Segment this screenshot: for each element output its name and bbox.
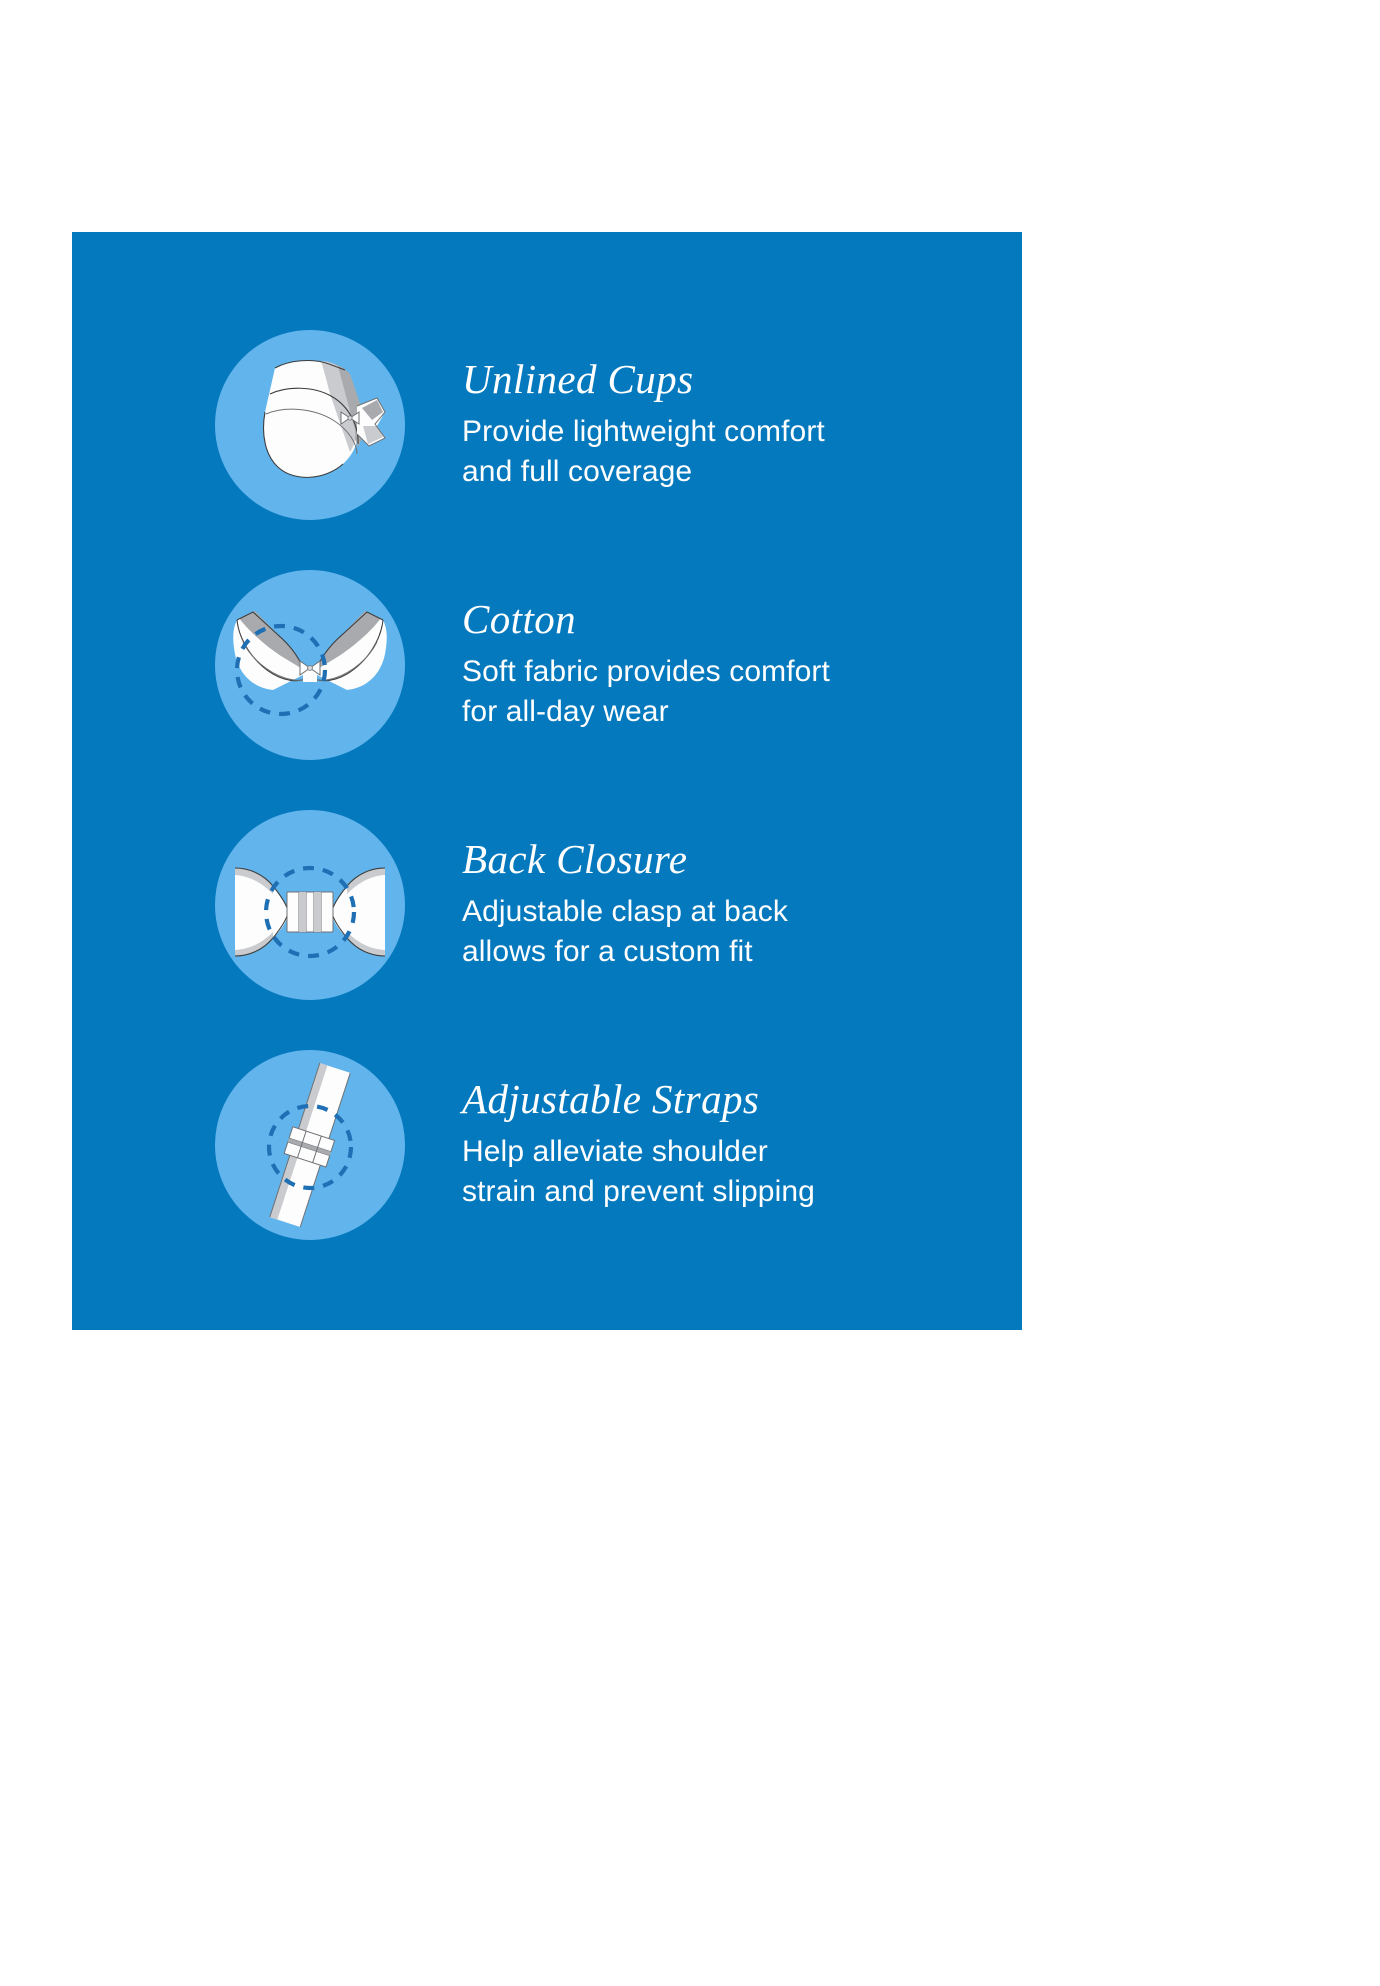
feature-title: Cotton <box>462 597 982 643</box>
feature-text-block: Adjustable Straps Help alleviate shoulde… <box>462 1050 982 1240</box>
feature-text-block: Cotton Soft fabric provides comfort for … <box>462 570 982 760</box>
feature-title: Unlined Cups <box>462 357 982 403</box>
cotton-fabric-icon <box>215 570 405 760</box>
page-canvas: Unlined Cups Provide lightweight comfort… <box>0 0 1380 1986</box>
feature-description-line: for all-day wear <box>462 692 982 733</box>
feature-description-line: Adjustable clasp at back <box>462 892 982 933</box>
feature-title: Adjustable Straps <box>462 1077 982 1123</box>
feature-description: Help alleviate shoulder strain and preve… <box>462 1132 982 1214</box>
feature-description: Adjustable clasp at back allows for a cu… <box>462 892 982 974</box>
feature-description-line: Help alleviate shoulder <box>462 1132 982 1173</box>
feature-row: Cotton Soft fabric provides comfort for … <box>72 570 1022 760</box>
feature-description-line: Provide lightweight comfort <box>462 412 982 453</box>
feature-title: Back Closure <box>462 837 982 883</box>
feature-description-line: Soft fabric provides comfort <box>462 652 982 693</box>
feature-description-line: and full coverage <box>462 452 982 493</box>
feature-description: Soft fabric provides comfort for all-day… <box>462 652 982 734</box>
feature-text-block: Back Closure Adjustable clasp at back al… <box>462 810 982 1000</box>
feature-row: Adjustable Straps Help alleviate shoulde… <box>72 1050 1022 1240</box>
feature-description-line: allows for a custom fit <box>462 932 982 973</box>
feature-row: Back Closure Adjustable clasp at back al… <box>72 810 1022 1000</box>
feature-panel: Unlined Cups Provide lightweight comfort… <box>72 232 1022 1330</box>
unlined-cup-icon <box>215 330 405 520</box>
feature-description-line: strain and prevent slipping <box>462 1172 982 1213</box>
back-closure-icon <box>215 810 405 1000</box>
feature-description: Provide lightweight comfort and full cov… <box>462 412 982 494</box>
feature-text-block: Unlined Cups Provide lightweight comfort… <box>462 330 982 520</box>
adjustable-strap-icon <box>215 1050 405 1240</box>
feature-row: Unlined Cups Provide lightweight comfort… <box>72 330 1022 520</box>
